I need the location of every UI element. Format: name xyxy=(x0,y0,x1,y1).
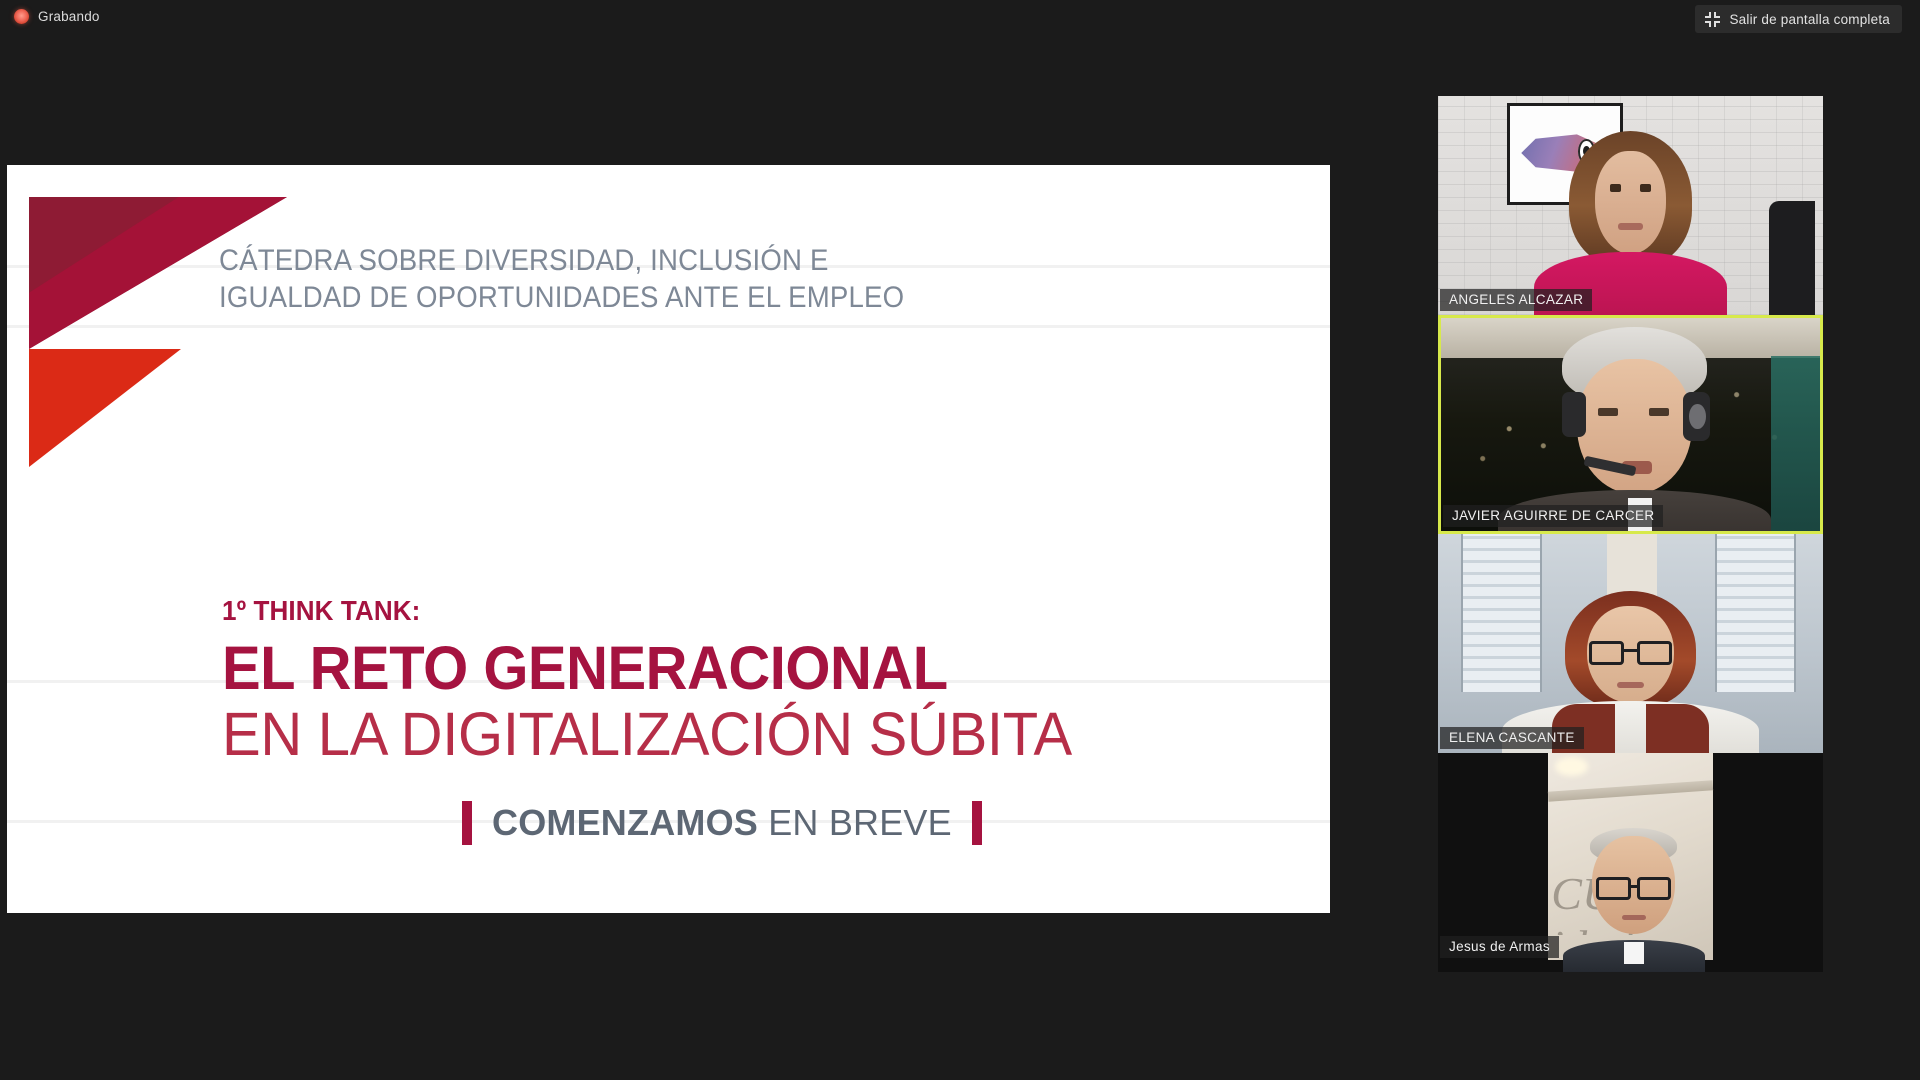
participant-name-label: Jesus de Armas xyxy=(1440,936,1559,958)
participant-video xyxy=(1441,318,1820,531)
participant-name-label: JAVIER AGUIRRE DE CARCER xyxy=(1443,505,1663,527)
participant-figure xyxy=(1565,591,1696,753)
participant-figure xyxy=(1558,327,1710,531)
slide-cta: COMENZAMOS EN BREVE xyxy=(462,801,982,845)
slide-title-line-2: EN LA DIGITALIZACIÓN SÚBITA xyxy=(222,703,1072,765)
participant-tile[interactable]: CUidad Jesus de Armas xyxy=(1438,753,1823,972)
recording-label: Grabando xyxy=(38,9,100,24)
recording-indicator: Grabando xyxy=(14,9,100,24)
slide-kicker-line-1: CÁTEDRA SOBRE DIVERSIDAD, INCLUSIÓN E xyxy=(219,243,1029,280)
slide-kicker-line-2: IGUALDAD DE OPORTUNIDADES ANTE EL EMPLEO xyxy=(219,280,1029,317)
top-bar: Grabando Salir de pantalla completa xyxy=(0,0,1920,38)
participant-video: CUidad xyxy=(1548,753,1713,960)
slide-eyebrow: 1º THINK TANK: xyxy=(222,595,1054,627)
participant-figure xyxy=(1584,828,1683,965)
slide-title-block: 1º THINK TANK: EL RETO GENERACIONAL EN L… xyxy=(222,595,1117,765)
participant-video xyxy=(1438,534,1823,753)
glasses-icon xyxy=(1596,877,1631,900)
participant-tile-active-speaker[interactable]: JAVIER AGUIRRE DE CARCER xyxy=(1438,315,1823,534)
cta-bar-right xyxy=(972,801,982,845)
slide-title-line-1: EL RETO GENERACIONAL xyxy=(222,637,1072,699)
cta-text-rest: EN BREVE xyxy=(758,802,952,843)
participant-tile[interactable]: ELENA CASCANTE xyxy=(1438,534,1823,753)
participant-tile-strip: ANGELES ALCAZAR xyxy=(1438,96,1823,972)
triangle-decoration xyxy=(29,197,287,467)
shared-screen-slide[interactable]: CÁTEDRA SOBRE DIVERSIDAD, INCLUSIÓN E IG… xyxy=(7,165,1330,913)
headset-icon xyxy=(1562,392,1586,437)
participant-tile[interactable]: ANGELES ALCAZAR xyxy=(1438,96,1823,315)
participant-name-label: ANGELES ALCAZAR xyxy=(1440,289,1592,311)
exit-fullscreen-button[interactable]: Salir de pantalla completa xyxy=(1695,5,1902,33)
ceiling-light xyxy=(1555,757,1588,776)
window-blind xyxy=(1715,534,1796,692)
cta-text-bold: COMENZAMOS xyxy=(492,802,758,843)
cta-text: COMENZAMOS EN BREVE xyxy=(492,802,952,844)
slide-kicker: CÁTEDRA SOBRE DIVERSIDAD, INCLUSIÓN E IG… xyxy=(219,243,1029,316)
exit-fullscreen-label: Salir de pantalla completa xyxy=(1729,12,1890,27)
glasses-icon xyxy=(1589,641,1624,665)
participant-video xyxy=(1438,96,1823,315)
window-blind xyxy=(1461,534,1542,692)
record-dot-icon xyxy=(14,9,29,24)
exit-fullscreen-icon xyxy=(1705,12,1720,27)
cta-bar-left xyxy=(462,801,472,845)
participant-name-label: ELENA CASCANTE xyxy=(1440,727,1584,749)
video-conference-screen: Grabando Salir de pantalla completa CÁTE… xyxy=(0,0,1920,1080)
participant-figure xyxy=(1569,131,1692,315)
